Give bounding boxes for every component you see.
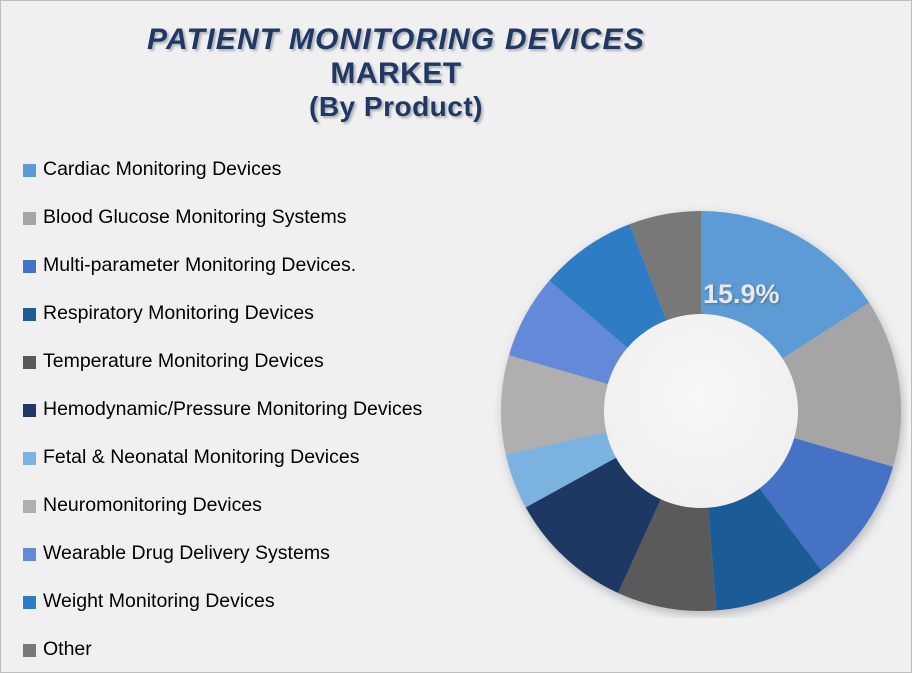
donut-chart-svg (494, 204, 908, 618)
legend-item-label: Cardiac Monitoring Devices (43, 160, 281, 180)
legend-item-label: Other (43, 640, 92, 660)
legend-swatch-icon (23, 404, 36, 417)
legend-item[interactable]: Multi-parameter Monitoring Devices. (23, 242, 523, 290)
legend-swatch-icon (23, 164, 36, 177)
legend-item[interactable]: Blood Glucose Monitoring Systems (23, 194, 523, 242)
chart-title-block: PATIENT MONITORING DEVICES MARKET (By Pr… (1, 23, 791, 123)
legend-swatch-icon (23, 356, 36, 369)
legend-item[interactable]: Weight Monitoring Devices (23, 578, 523, 626)
legend-item-label: Blood Glucose Monitoring Systems (43, 208, 346, 228)
legend-item[interactable]: Respiratory Monitoring Devices (23, 290, 523, 338)
legend-swatch-icon (23, 212, 36, 225)
legend-item-label: Weight Monitoring Devices (43, 592, 275, 612)
legend-item-label: Temperature Monitoring Devices (43, 352, 324, 372)
legend-swatch-icon (23, 452, 36, 465)
legend-swatch-icon (23, 548, 36, 561)
page-title-line-3: (By Product) (1, 91, 791, 123)
legend-swatch-icon (23, 308, 36, 321)
legend-item[interactable]: Other (23, 626, 523, 673)
legend-item-label: Multi-parameter Monitoring Devices. (43, 256, 356, 276)
chart-canvas: PATIENT MONITORING DEVICES MARKET (By Pr… (0, 0, 912, 673)
legend-item[interactable]: Neuromonitoring Devices (23, 482, 523, 530)
legend-item-label: Neuromonitoring Devices (43, 496, 262, 516)
legend-swatch-icon (23, 500, 36, 513)
page-title-line-1: PATIENT MONITORING DEVICES (1, 23, 791, 57)
legend-swatch-icon (23, 644, 36, 657)
legend-item-label: Fetal & Neonatal Monitoring Devices (43, 448, 360, 468)
legend-item-label: Wearable Drug Delivery Systems (43, 544, 330, 564)
legend-item[interactable]: Temperature Monitoring Devices (23, 338, 523, 386)
donut-center-hole (604, 314, 798, 508)
legend-swatch-icon (23, 596, 36, 609)
donut-chart: 15.9% (494, 204, 908, 618)
legend-swatch-icon (23, 260, 36, 273)
legend-item[interactable]: Hemodynamic/Pressure Monitoring Devices (23, 386, 523, 434)
legend-item[interactable]: Cardiac Monitoring Devices (23, 146, 523, 194)
legend-item[interactable]: Fetal & Neonatal Monitoring Devices (23, 434, 523, 482)
page-title-line-2: MARKET (1, 57, 791, 91)
legend-item[interactable]: Wearable Drug Delivery Systems (23, 530, 523, 578)
chart-legend: Cardiac Monitoring DevicesBlood Glucose … (23, 146, 523, 673)
legend-item-label: Respiratory Monitoring Devices (43, 304, 314, 324)
slice-value-label: 15.9% (703, 279, 780, 310)
legend-item-label: Hemodynamic/Pressure Monitoring Devices (43, 400, 422, 420)
